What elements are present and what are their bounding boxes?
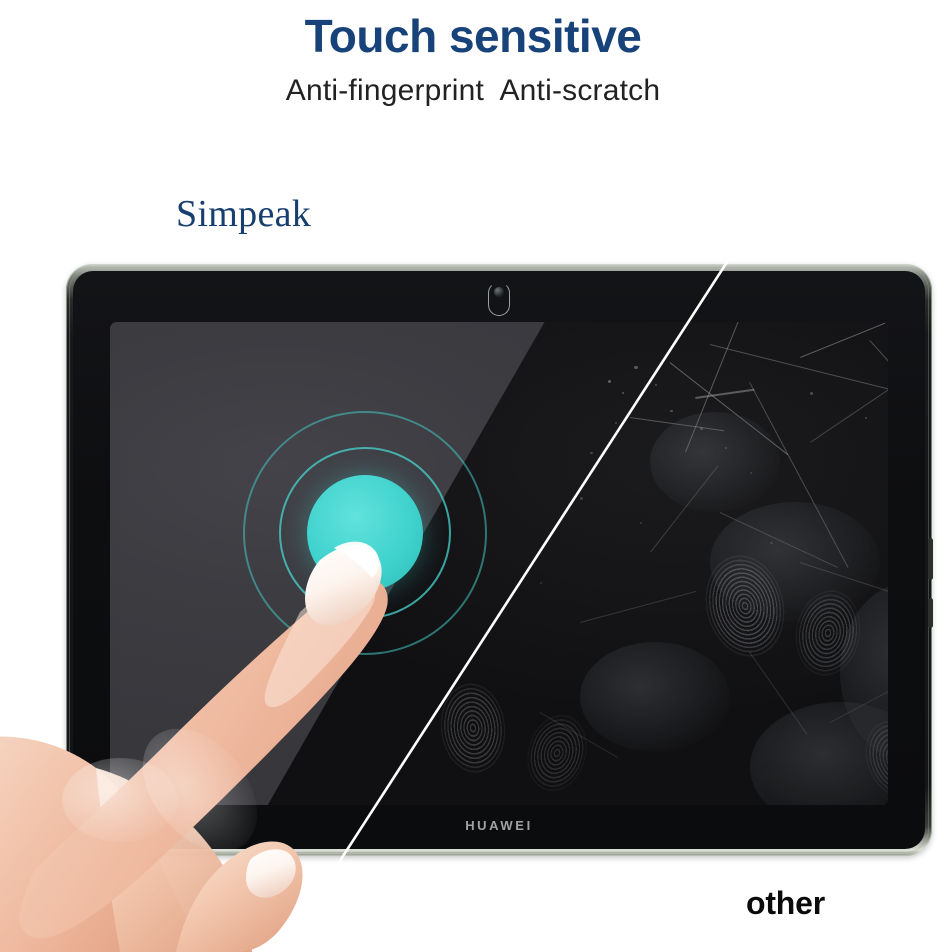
product-marketing-image: Touch sensitive Anti-fingerprint Anti-sc… <box>0 0 946 952</box>
tablet-device: HUAWEI <box>66 264 932 856</box>
touch-ripple-disc <box>307 475 423 591</box>
front-camera-lens-icon <box>494 287 504 297</box>
tablet-bezel: HUAWEI <box>73 271 925 849</box>
tablet-screen[interactable] <box>110 322 888 805</box>
page-title: Touch sensitive <box>0 12 946 60</box>
vendor-wordmark: HUAWEI <box>73 818 925 833</box>
hand-folded-finger <box>176 842 303 952</box>
comparison-label-other: other <box>746 885 825 922</box>
touch-ripple-indicator <box>110 322 888 805</box>
page-subtitle: Anti-fingerprint Anti-scratch <box>0 74 946 108</box>
folded-finger-nail <box>246 849 296 898</box>
brand-logo-simpeak: Simpeak <box>176 192 311 236</box>
